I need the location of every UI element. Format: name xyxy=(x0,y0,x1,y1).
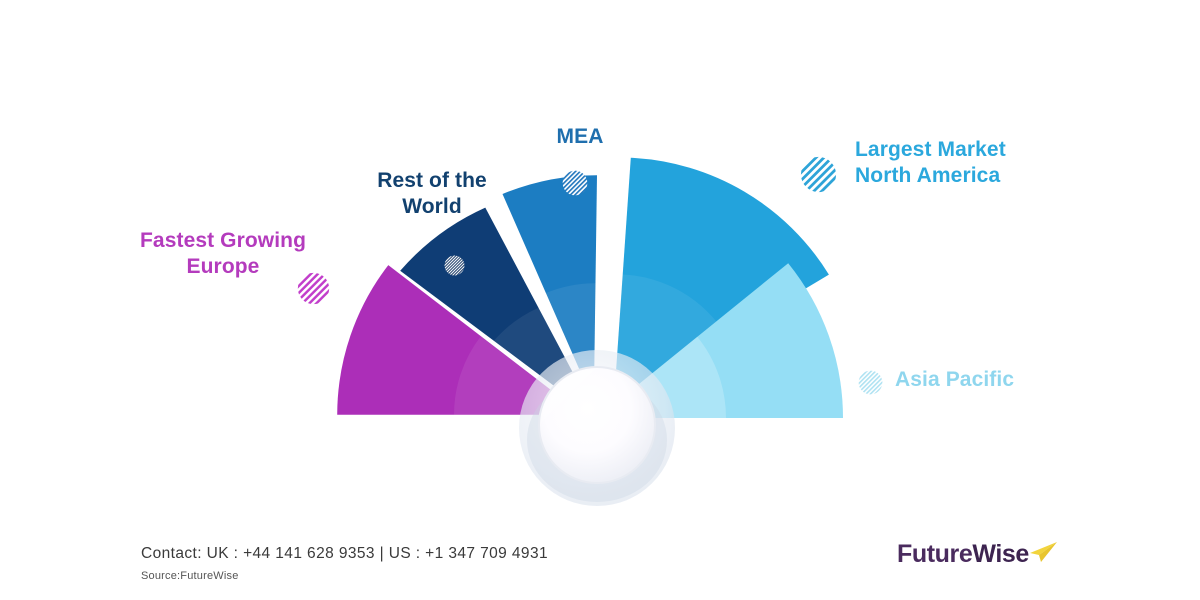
hatched-circle-icon-mea xyxy=(562,170,588,196)
paper-plane-icon xyxy=(1028,541,1058,563)
infographic-page: Fastest Growing Europe Rest of the World… xyxy=(0,0,1200,600)
logo-word-future: Future xyxy=(897,540,972,568)
logo-word-wise: Wise xyxy=(972,540,1029,568)
label-na-line1: Largest Market xyxy=(855,137,1065,163)
futurewise-logo: FutureWise xyxy=(897,540,1057,586)
hatched-circle-icon-asia-pacific xyxy=(858,370,883,395)
label-mea-line1: MEA xyxy=(500,124,660,150)
logo-wordmark: FutureWise xyxy=(897,540,1029,569)
hatched-circle-icon-north-america xyxy=(800,156,837,193)
label-north-america: Largest Market North America xyxy=(855,137,1065,189)
hatched-circle-icon-europe xyxy=(297,272,330,305)
regional-market-share-chart xyxy=(0,0,1200,600)
label-na-line2: North America xyxy=(855,163,1065,189)
hatched-circle-icon-rest-of-world xyxy=(444,255,465,276)
label-rest-of-world: Rest of the World xyxy=(352,168,512,220)
label-row-line2: World xyxy=(352,194,512,220)
label-asia-pacific: Asia Pacific xyxy=(895,367,1095,393)
label-mea: MEA xyxy=(500,124,660,150)
contact-info: Contact: UK : +44 141 628 9353 | US : +1… xyxy=(141,545,548,563)
source-credit: Source:FutureWise xyxy=(141,570,239,582)
label-ap-line1: Asia Pacific xyxy=(895,367,1095,393)
label-europe-line1: Fastest Growing xyxy=(98,228,348,254)
label-row-line1: Rest of the xyxy=(352,168,512,194)
